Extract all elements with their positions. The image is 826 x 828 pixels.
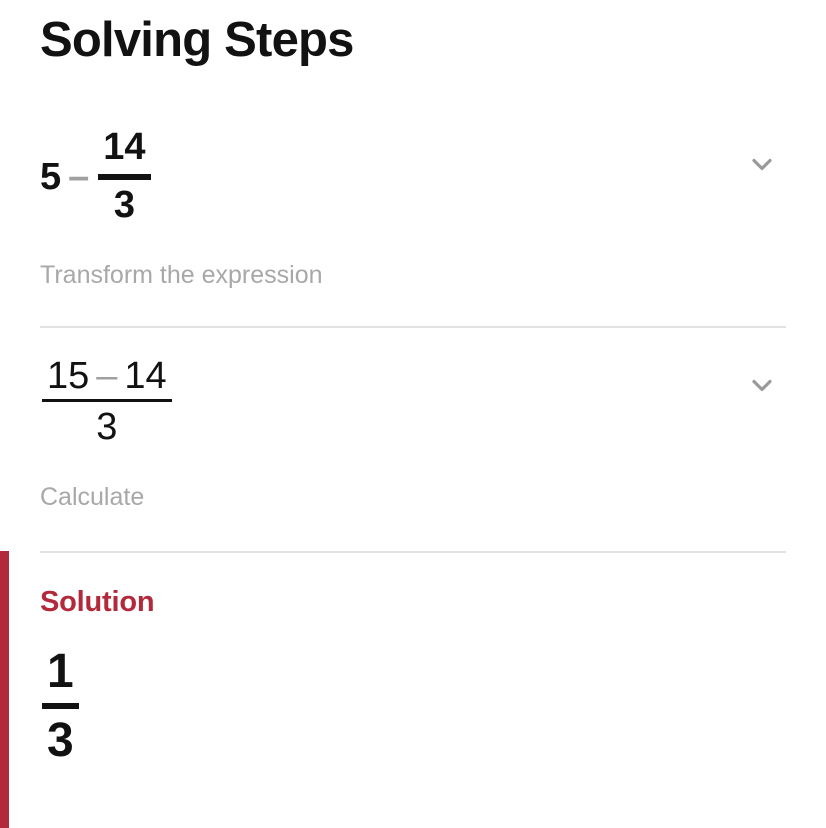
- step-1-expression: 5 – 14 3: [40, 126, 153, 227]
- fraction-numerator: 15 – 14: [42, 357, 172, 395]
- fraction-denominator: 3: [91, 406, 122, 450]
- step-1-caption: Transform the expression: [40, 261, 323, 290]
- solution-block: Solution 1 3: [0, 551, 826, 828]
- numerator-operator-minus: –: [96, 357, 117, 395]
- step-2-caption: Calculate: [40, 483, 144, 512]
- step-divider-1: [40, 326, 786, 328]
- fraction: 15 – 14 3: [42, 357, 172, 450]
- step-2-toggle-button[interactable]: [741, 364, 783, 406]
- math-expression: 15 – 14 3: [40, 357, 174, 450]
- chevron-down-icon: [745, 147, 779, 181]
- numerator-right-operand: 14: [124, 357, 166, 395]
- step-1-toggle-button[interactable]: [741, 143, 783, 185]
- operator-minus: –: [68, 158, 89, 196]
- step-2-expression: 15 – 14 3: [40, 357, 174, 450]
- fraction-bar: [98, 174, 150, 180]
- math-expression: 5 – 14 3: [40, 126, 153, 227]
- operand-lead: 5: [40, 158, 61, 196]
- fraction-bar: [42, 703, 79, 709]
- solution-accent-bar: [0, 551, 9, 828]
- page-title: Solving Steps: [40, 11, 354, 70]
- fraction-denominator: 3: [42, 713, 79, 768]
- fraction-numerator: 1: [42, 644, 79, 699]
- chevron-down-icon: [745, 368, 779, 402]
- fraction-bar: [42, 399, 172, 402]
- numerator-left-operand: 15: [47, 357, 89, 395]
- solving-step-2: 15 – 14 3 Calculate: [0, 357, 826, 552]
- solution-value: 1 3: [40, 644, 81, 768]
- solution-heading: Solution: [40, 586, 154, 619]
- fraction-numerator: 14: [98, 126, 150, 170]
- fraction-denominator: 3: [109, 184, 140, 228]
- fraction: 1 3: [42, 644, 79, 768]
- solving-step-1: 5 – 14 3 Transform the expression: [0, 126, 826, 326]
- fraction: 14 3: [98, 126, 150, 227]
